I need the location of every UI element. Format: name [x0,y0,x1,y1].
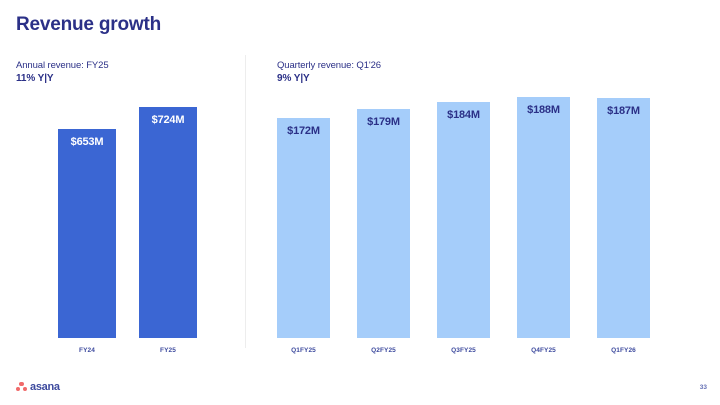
asana-dots-icon [16,382,27,392]
bar-value-label: $653M [71,136,104,148]
bar-column: $184M [437,102,490,338]
bar-value-label: $184M [447,109,480,121]
bar: $187M [597,98,650,338]
axis-tick-label: Q1FY25 [277,339,330,354]
bar-value-label: $724M [152,114,185,126]
annual-section-header: Annual revenue: FY25 11% Y|Y [16,59,109,85]
asana-wordmark: asana [30,381,60,393]
quarterly-growth: 9% Y|Y [277,72,381,85]
axis-tick-label: Q3FY25 [437,339,490,354]
bar: $179M [357,109,410,338]
annual-axis-labels: FY24FY25 [16,338,226,354]
quarterly-section-header: Quarterly revenue: Q1'26 9% Y|Y [277,59,381,85]
slide-canvas: Revenue growth Annual revenue: FY25 11% … [0,0,720,405]
page-number: 33 [700,384,707,391]
bar-column: $172M [277,118,330,338]
annual-growth: 11% Y|Y [16,72,109,85]
bar-column: $724M [139,107,197,338]
asana-logo: asana [16,381,60,393]
quarterly-revenue-chart: $172M$179M$184M$188M$187M Q1FY25Q2FY25Q3… [277,92,697,354]
bar: $184M [437,102,490,338]
bar-value-label: $187M [607,105,640,117]
axis-tick-label: Q1FY26 [597,339,650,354]
bar-value-label: $188M [527,104,560,116]
bar: $724M [139,107,197,338]
bar: $653M [58,129,116,338]
page-title: Revenue growth [16,14,161,36]
bar-column: $179M [357,109,410,338]
bar: $188M [517,97,570,338]
quarterly-caption: Quarterly revenue: Q1'26 [277,59,381,72]
quarterly-axis-labels: Q1FY25Q2FY25Q3FY25Q4FY25Q1FY26 [277,338,697,354]
bar-column: $187M [597,98,650,338]
axis-tick-label: Q4FY25 [517,339,570,354]
axis-tick-label: FY25 [139,339,197,354]
quarterly-bars: $172M$179M$184M$188M$187M [277,92,697,338]
section-divider [245,55,246,348]
bar-value-label: $172M [287,125,320,137]
annual-revenue-chart: $653M$724M FY24FY25 [16,92,226,354]
annual-bars: $653M$724M [16,92,226,338]
bar-value-label: $179M [367,116,400,128]
bar-column: $653M [58,129,116,338]
axis-tick-label: Q2FY25 [357,339,410,354]
bar: $172M [277,118,330,338]
annual-caption: Annual revenue: FY25 [16,59,109,72]
bar-column: $188M [517,97,570,338]
axis-tick-label: FY24 [58,339,116,354]
